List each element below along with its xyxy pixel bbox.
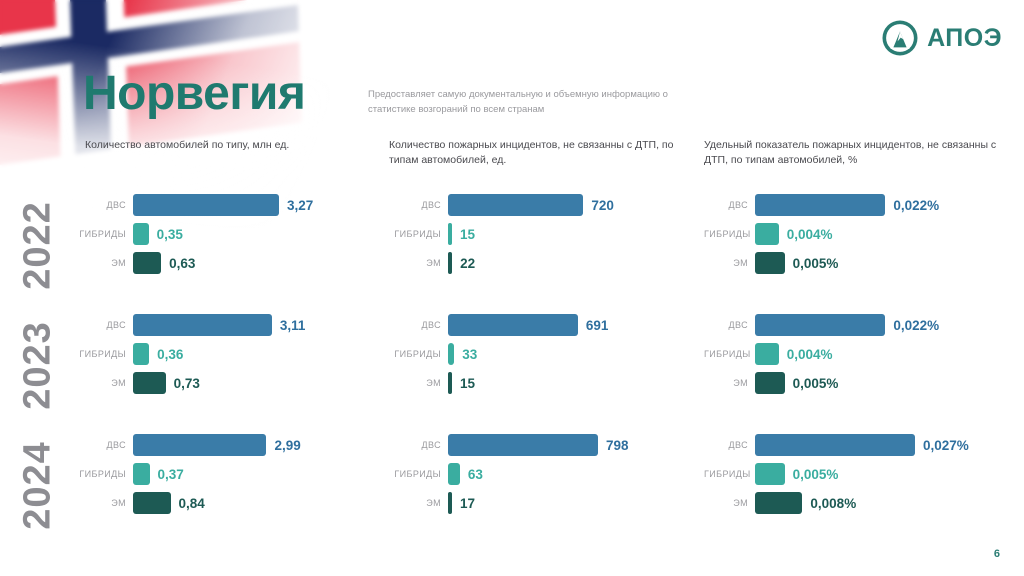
- bar-category-label: ЭМ: [35, 498, 133, 508]
- bar-ev: [755, 372, 785, 394]
- chart-panel: ДВС3,27ГИБРИДЫ0,35ЭМ0,63: [35, 192, 335, 279]
- bar-category-label: ГИБРИДЫ: [704, 229, 755, 239]
- chart-panel: ДВС720ГИБРИДЫ15ЭМ22: [389, 192, 689, 279]
- bar-value-label: 0,84: [171, 496, 205, 511]
- bar-category-label: ЭМ: [35, 378, 133, 388]
- bar-value-label: 0,005%: [785, 256, 839, 271]
- bar-row-ice: ДВС0,027%: [704, 432, 1004, 458]
- bar-ice: [448, 314, 578, 336]
- bar-track: 0,84: [133, 492, 335, 514]
- bar-row-hybrid: ГИБРИДЫ0,37: [35, 461, 335, 487]
- page-number: 6: [994, 548, 1000, 560]
- bar-category-label: ГИБРИДЫ: [389, 469, 448, 479]
- bar-category-label: ДВС: [389, 440, 448, 450]
- bar-value-label: 3,11: [272, 318, 306, 333]
- bar-value-label: 2,99: [266, 438, 300, 453]
- bar-row-ev: ЭМ0,73: [35, 370, 335, 396]
- bar-row-hybrid: ГИБРИДЫ63: [389, 461, 689, 487]
- bar-track: 2,99: [133, 434, 335, 456]
- bar-value-label: 15: [452, 227, 475, 242]
- bar-row-hybrid: ГИБРИДЫ0,004%: [704, 221, 1004, 247]
- bar-track: 0,022%: [755, 194, 1004, 216]
- bar-track: 0,005%: [755, 252, 1004, 274]
- bar-track: 3,27: [133, 194, 335, 216]
- bar-track: 720: [448, 194, 689, 216]
- bar-track: 0,63: [133, 252, 335, 274]
- bar-row-ice: ДВС0,022%: [704, 192, 1004, 218]
- bar-category-label: ЭМ: [704, 258, 755, 268]
- bar-ice: [755, 434, 915, 456]
- bar-hybrid: [448, 463, 460, 485]
- bar-row-hybrid: ГИБРИДЫ0,36: [35, 341, 335, 367]
- bar-value-label: 798: [598, 438, 629, 453]
- bar-value-label: 691: [578, 318, 609, 333]
- bar-value-label: 720: [583, 198, 614, 213]
- bar-ev: [755, 492, 802, 514]
- bar-ice: [133, 314, 272, 336]
- bar-value-label: 0,36: [149, 347, 183, 362]
- bar-category-label: ДВС: [389, 320, 448, 330]
- bar-row-ice: ДВС720: [389, 192, 689, 218]
- bar-row-ice: ДВС0,022%: [704, 312, 1004, 338]
- bar-category-label: ЭМ: [704, 378, 755, 388]
- bar-row-ice: ДВС3,27: [35, 192, 335, 218]
- flag-blue-horizontal: [0, 5, 299, 77]
- bar-row-hybrid: ГИБРИДЫ0,004%: [704, 341, 1004, 367]
- bar-value-label: 0,73: [166, 376, 200, 391]
- bar-track: 0,004%: [755, 343, 1004, 365]
- bar-category-label: ЭМ: [389, 498, 448, 508]
- brand-logo: АПОЭ: [880, 18, 1002, 58]
- bar-ev: [133, 372, 166, 394]
- bar-category-label: ЭМ: [389, 378, 448, 388]
- bar-value-label: 22: [452, 256, 475, 271]
- bar-category-label: ГИБРИДЫ: [704, 349, 755, 359]
- bar-track: 798: [448, 434, 689, 456]
- bar-value-label: 17: [452, 496, 475, 511]
- chart-panel: ДВС0,022%ГИБРИДЫ0,004%ЭМ0,005%: [704, 312, 1004, 399]
- bar-row-hybrid: ГИБРИДЫ0,005%: [704, 461, 1004, 487]
- bar-ice: [755, 314, 885, 336]
- column-header-rate: Удельный показатель пожарных инцидентов,…: [704, 138, 1004, 168]
- apoe-logo-icon: [880, 18, 920, 58]
- bar-track: 0,37: [133, 463, 335, 485]
- charts-grid: Количество автомобилей по типу, млн ед. …: [0, 138, 1024, 542]
- page-title: Норвегия: [83, 70, 305, 118]
- bar-category-label: ДВС: [35, 320, 133, 330]
- bar-track: 0,005%: [755, 372, 1004, 394]
- bar-track: 22: [448, 252, 689, 274]
- bar-category-label: ДВС: [704, 440, 755, 450]
- bar-value-label: 63: [460, 467, 483, 482]
- column-headers: Количество автомобилей по типу, млн ед. …: [0, 138, 1024, 182]
- bar-value-label: 0,35: [149, 227, 183, 242]
- bar-value-label: 3,27: [279, 198, 313, 213]
- bar-track: 0,022%: [755, 314, 1004, 336]
- bar-value-label: 0,027%: [915, 438, 969, 453]
- year-block-2024: 2024 ДВС2,99ГИБРИДЫ0,37ЭМ0,84 ДВС798ГИБР…: [0, 422, 1024, 542]
- bar-ice: [448, 194, 583, 216]
- bar-hybrid: [133, 463, 150, 485]
- bar-value-label: 0,37: [150, 467, 184, 482]
- bar-row-hybrid: ГИБРИДЫ15: [389, 221, 689, 247]
- chart-panel: ДВС0,027%ГИБРИДЫ0,005%ЭМ0,008%: [704, 432, 1004, 519]
- bar-category-label: ЭМ: [35, 258, 133, 268]
- bar-value-label: 0,004%: [779, 347, 833, 362]
- bar-track: 0,36: [133, 343, 335, 365]
- bar-row-hybrid: ГИБРИДЫ0,35: [35, 221, 335, 247]
- column-header-vehicles: Количество автомобилей по типу, млн ед.: [85, 138, 385, 153]
- bar-track: 0,35: [133, 223, 335, 245]
- bar-row-ice: ДВС2,99: [35, 432, 335, 458]
- bar-ev: [133, 492, 171, 514]
- year-block-2023: 2023 ДВС3,11ГИБРИДЫ0,36ЭМ0,73 ДВС691ГИБР…: [0, 302, 1024, 422]
- bar-row-ev: ЭМ0,005%: [704, 250, 1004, 276]
- bar-value-label: 0,022%: [885, 318, 939, 333]
- bar-ev: [133, 252, 161, 274]
- bar-hybrid: [755, 463, 785, 485]
- bar-category-label: ГИБРИДЫ: [35, 229, 133, 239]
- bar-category-label: ДВС: [389, 200, 448, 210]
- chart-panel: ДВС798ГИБРИДЫ63ЭМ17: [389, 432, 689, 519]
- bar-value-label: 0,004%: [779, 227, 833, 242]
- bar-track: 691: [448, 314, 689, 336]
- year-block-2022: 2022 ДВС3,27ГИБРИДЫ0,35ЭМ0,63 ДВС720ГИБР…: [0, 182, 1024, 302]
- bar-category-label: ГИБРИДЫ: [704, 469, 755, 479]
- bar-ev: [755, 252, 785, 274]
- bar-track: 0,005%: [755, 463, 1004, 485]
- bar-category-label: ГИБРИДЫ: [35, 349, 133, 359]
- bar-track: 0,027%: [755, 434, 1004, 456]
- bar-ice: [133, 434, 266, 456]
- bar-category-label: ДВС: [35, 200, 133, 210]
- page-subtitle: Предоставляет самую документальную и объ…: [368, 88, 668, 117]
- column-header-incidents: Количество пожарных инцидентов, не связа…: [389, 138, 699, 168]
- bar-hybrid: [133, 343, 149, 365]
- bar-row-ev: ЭМ0,63: [35, 250, 335, 276]
- bar-value-label: 33: [454, 347, 477, 362]
- bar-category-label: ГИБРИДЫ: [35, 469, 133, 479]
- bar-row-ev: ЭМ0,84: [35, 490, 335, 516]
- bar-category-label: ЭМ: [389, 258, 448, 268]
- chart-panel: ДВС691ГИБРИДЫ33ЭМ15: [389, 312, 689, 399]
- bar-category-label: ДВС: [704, 200, 755, 210]
- bar-row-ice: ДВС798: [389, 432, 689, 458]
- bar-hybrid: [755, 223, 779, 245]
- bar-value-label: 0,022%: [885, 198, 939, 213]
- bar-track: 33: [448, 343, 689, 365]
- bar-category-label: ЭМ: [704, 498, 755, 508]
- bar-category-label: ДВС: [704, 320, 755, 330]
- bar-row-ice: ДВС3,11: [35, 312, 335, 338]
- chart-panel: ДВС0,022%ГИБРИДЫ0,004%ЭМ0,005%: [704, 192, 1004, 279]
- bar-value-label: 15: [452, 376, 475, 391]
- bar-row-ev: ЭМ22: [389, 250, 689, 276]
- bar-row-ev: ЭМ15: [389, 370, 689, 396]
- bar-hybrid: [755, 343, 779, 365]
- bar-track: 0,008%: [755, 492, 1004, 514]
- bar-track: 0,004%: [755, 223, 1004, 245]
- logo-text: АПОЭ: [927, 24, 1002, 53]
- bar-row-hybrid: ГИБРИДЫ33: [389, 341, 689, 367]
- bar-value-label: 0,005%: [785, 467, 839, 482]
- bar-row-ev: ЭМ17: [389, 490, 689, 516]
- bar-row-ev: ЭМ0,008%: [704, 490, 1004, 516]
- bar-value-label: 0,005%: [785, 376, 839, 391]
- bar-track: 15: [448, 372, 689, 394]
- chart-panel: ДВС3,11ГИБРИДЫ0,36ЭМ0,73: [35, 312, 335, 399]
- bar-ice: [755, 194, 885, 216]
- bar-row-ice: ДВС691: [389, 312, 689, 338]
- bar-track: 63: [448, 463, 689, 485]
- bar-hybrid: [133, 223, 149, 245]
- bar-category-label: ГИБРИДЫ: [389, 229, 448, 239]
- bar-row-ev: ЭМ0,005%: [704, 370, 1004, 396]
- bar-ice: [133, 194, 279, 216]
- bar-track: 15: [448, 223, 689, 245]
- bar-value-label: 0,63: [161, 256, 195, 271]
- chart-panel: ДВС2,99ГИБРИДЫ0,37ЭМ0,84: [35, 432, 335, 519]
- bar-category-label: ДВС: [35, 440, 133, 450]
- bar-category-label: ГИБРИДЫ: [389, 349, 448, 359]
- bar-track: 3,11: [133, 314, 335, 336]
- bar-track: 17: [448, 492, 689, 514]
- bar-ice: [448, 434, 598, 456]
- bar-value-label: 0,008%: [802, 496, 856, 511]
- bar-track: 0,73: [133, 372, 335, 394]
